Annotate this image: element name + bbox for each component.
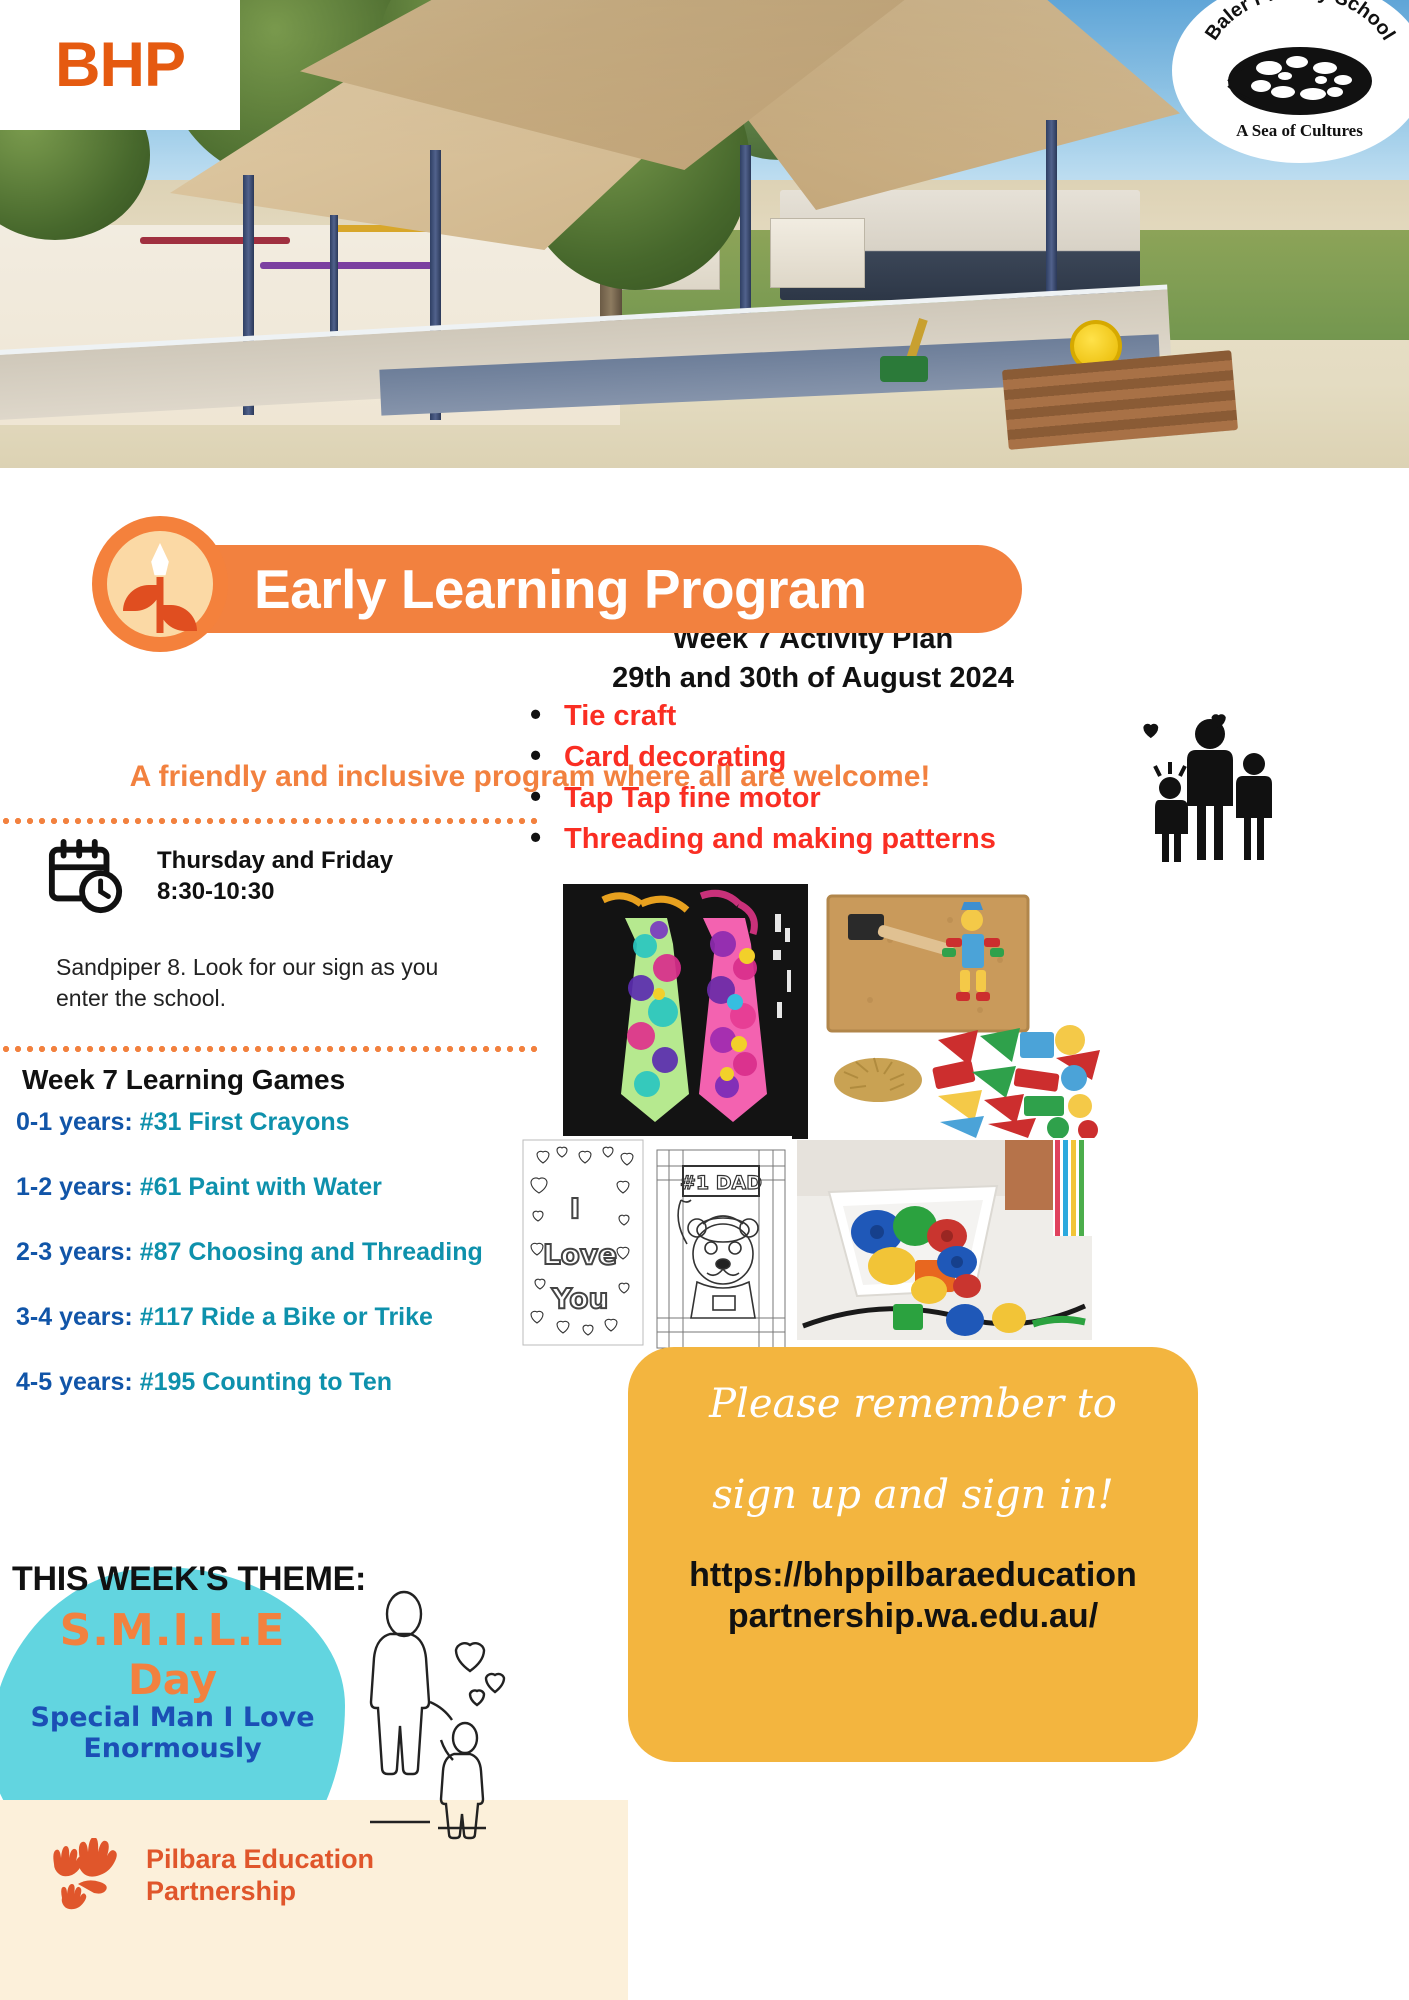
activity-plan-dates: 29th and 30th of August 2024	[533, 659, 1093, 698]
game-name: #87 Choosing and Threading	[140, 1238, 483, 1266]
list-item: Tap Tap fine motor	[520, 782, 1140, 815]
bhp-logo: BHP	[0, 0, 240, 130]
list-item: 1-2 years: #61 Paint with Water	[16, 1173, 576, 1202]
activity-list: Tie craft Card decorating Tap Tap fine m…	[520, 700, 1140, 864]
age-range: 0-1 years:	[16, 1108, 133, 1136]
school-tagline: A Sea of Cultures	[1172, 121, 1409, 141]
colouring-cards-image: I Love You #1 DAD	[517, 1136, 792, 1351]
theme-expansion-line2: Enormously	[0, 1733, 345, 1764]
schedule-time: 8:30-10:30	[157, 877, 393, 908]
partner-line-2: Partnership	[146, 1875, 374, 1907]
leaf-left-icon	[123, 585, 161, 611]
list-item: 4-5 years: #195 Counting to Ten	[16, 1368, 576, 1397]
signup-cta-card[interactable]: Please remember to sign up and sign in! …	[628, 1347, 1198, 1762]
partner-line-1: Pilbara Education	[146, 1843, 374, 1875]
schedule-days-time: Thursday and Friday 8:30-10:30	[157, 846, 393, 907]
game-name: #61 Paint with Water	[140, 1173, 382, 1201]
poster: BHP Baler Primary School A Sea of Cultur…	[0, 0, 1409, 2000]
family-silhouette-icon	[1130, 712, 1290, 862]
seedling-badge	[92, 516, 228, 652]
age-range: 2-3 years:	[16, 1238, 133, 1266]
svg-text:I: I	[570, 1192, 580, 1225]
cta-line-2: sign up and sign in!	[628, 1472, 1198, 1518]
divider-top	[0, 818, 537, 824]
learning-games-list: 0-1 years: #31 First Crayons 1-2 years: …	[16, 1108, 576, 1433]
tap-tap-image	[820, 890, 1110, 1138]
age-range: 4-5 years:	[16, 1368, 133, 1396]
learning-games-heading: Week 7 Learning Games	[22, 1064, 345, 1096]
bhp-logo-text: BHP	[55, 29, 185, 101]
list-item: 0-1 years: #31 First Crayons	[16, 1108, 576, 1137]
list-item: Tie craft	[520, 700, 1140, 733]
dad-card-text: #1 DAD	[680, 1172, 762, 1194]
schedule-days: Thursday and Friday	[157, 846, 393, 877]
title-banner: Early Learning Program	[148, 545, 1022, 633]
shell-icon	[1225, 42, 1375, 120]
theme-day-word: Day	[0, 1655, 345, 1704]
theme-expansion-line1: Special Man I Love	[0, 1702, 345, 1733]
calendar-clock-icon	[47, 838, 125, 916]
list-item: Threading and making patterns	[520, 823, 1140, 856]
signup-url-line2: partnership.wa.edu.au/	[628, 1596, 1198, 1637]
game-name: #31 First Crayons	[140, 1108, 350, 1136]
signup-url[interactable]: https://bhppilbaraeducation partnership.…	[628, 1555, 1198, 1638]
svg-text:Love: Love	[543, 1238, 617, 1271]
svg-text:You: You	[551, 1282, 609, 1315]
seedling-icon	[107, 531, 213, 637]
tie-craft-image	[563, 884, 808, 1139]
shed-small	[770, 218, 865, 288]
signup-url-line1: https://bhppilbaraeducation	[628, 1555, 1198, 1596]
school-logo: Baler Primary School A Sea of Cultures	[1172, 0, 1409, 163]
theme-heading: THIS WEEK'S THEME:	[12, 1560, 366, 1599]
page-title: Early Learning Program	[254, 557, 867, 621]
theme-expansion: Special Man I Love Enormously	[0, 1702, 345, 1765]
age-range: 1-2 years:	[16, 1173, 133, 1201]
schedule-location: Sandpiper 8. Look for our sign as you en…	[56, 952, 491, 1013]
theme-acronym: S.M.I.L.E	[0, 1605, 345, 1656]
handprints-icon	[48, 1838, 134, 1924]
game-name: #195 Counting to Ten	[140, 1368, 392, 1396]
photo-tie-craft	[563, 884, 808, 1139]
school-name-text: Baler Primary School	[1201, 0, 1399, 44]
divider-bottom	[0, 1046, 537, 1052]
photo-tap-tap	[820, 890, 1110, 1138]
list-item: 3-4 years: #117 Ride a Bike or Trike	[16, 1303, 576, 1332]
photo-threading-beads	[797, 1140, 1092, 1340]
age-range: 3-4 years:	[16, 1303, 133, 1331]
pilbara-education-partnership-logo: Pilbara Education Partnership	[146, 1843, 374, 1908]
playground-bar	[260, 262, 440, 269]
threading-beads-image	[797, 1140, 1092, 1340]
cta-line-1: Please remember to	[628, 1381, 1198, 1427]
dad-and-child-line-icon	[352, 1590, 522, 1840]
photo-colouring-cards: I Love You #1 DAD	[517, 1136, 792, 1351]
trike	[880, 318, 1000, 380]
leaf-right-icon	[159, 605, 197, 631]
game-name: #117 Ride a Bike or Trike	[140, 1303, 433, 1331]
list-item: Card decorating	[520, 741, 1140, 774]
water-drop-icon	[149, 543, 171, 577]
list-item: 2-3 years: #87 Choosing and Threading	[16, 1238, 576, 1267]
playground-bar	[140, 237, 290, 244]
